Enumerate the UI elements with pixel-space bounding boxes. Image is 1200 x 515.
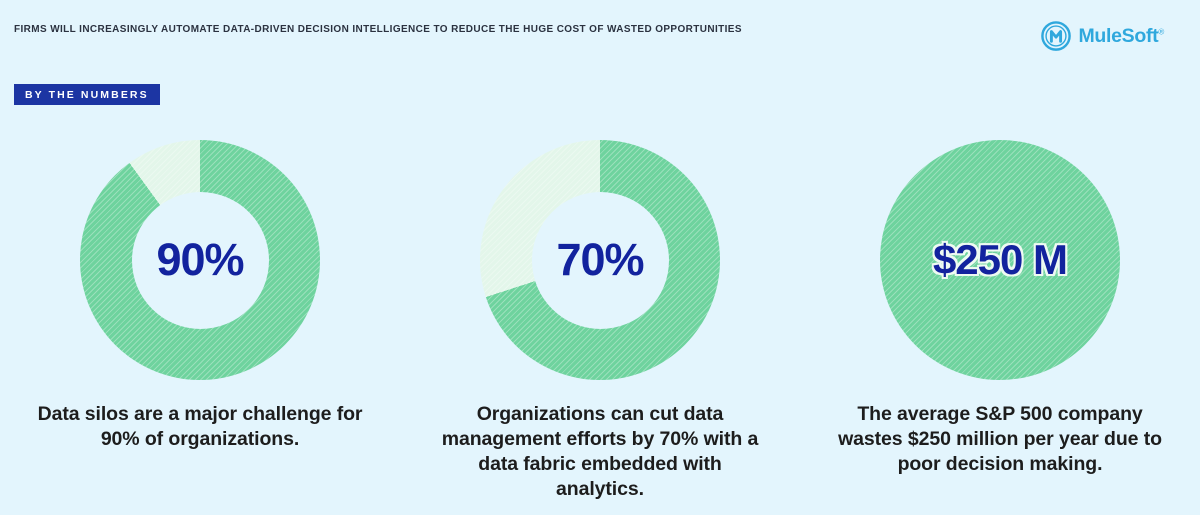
mulesoft-wordmark: MuleSoft® [1078,25,1164,48]
circle-chart-250m: $250 M [880,140,1120,380]
mulesoft-circle-m-icon [1041,21,1071,51]
stat-caption-250m: The average S&P 500 company wastes $250 … [835,402,1165,477]
mulesoft-wordmark-text: MuleSoft [1078,25,1158,47]
page-headline: FIRMS WILL INCREASINGLY AUTOMATE DATA-DR… [14,23,742,35]
stat-caption-70: Organizations can cut data management ef… [435,402,765,502]
donut-center-value-90: 90% [80,140,320,380]
stat-block-250m: $250 M The average S&P 500 company waste… [800,140,1200,502]
by-the-numbers-badge: BY THE NUMBERS [14,84,160,105]
stat-block-90: 90% Data silos are a major challenge for… [0,140,400,502]
header-bar: FIRMS WILL INCREASINGLY AUTOMATE DATA-DR… [0,0,1200,62]
stat-caption-90: Data silos are a major challenge for 90%… [35,402,365,452]
stats-row: 90% Data silos are a major challenge for… [0,140,1200,502]
circle-center-value-250m: $250 M [880,140,1120,380]
stat-block-70: 70% Organizations can cut data managemen… [400,140,800,502]
mulesoft-trademark: ® [1158,27,1164,36]
mulesoft-logo: MuleSoft® [1041,21,1164,51]
donut-center-value-70: 70% [480,140,720,380]
donut-chart-70: 70% [480,140,720,380]
donut-chart-90: 90% [80,140,320,380]
